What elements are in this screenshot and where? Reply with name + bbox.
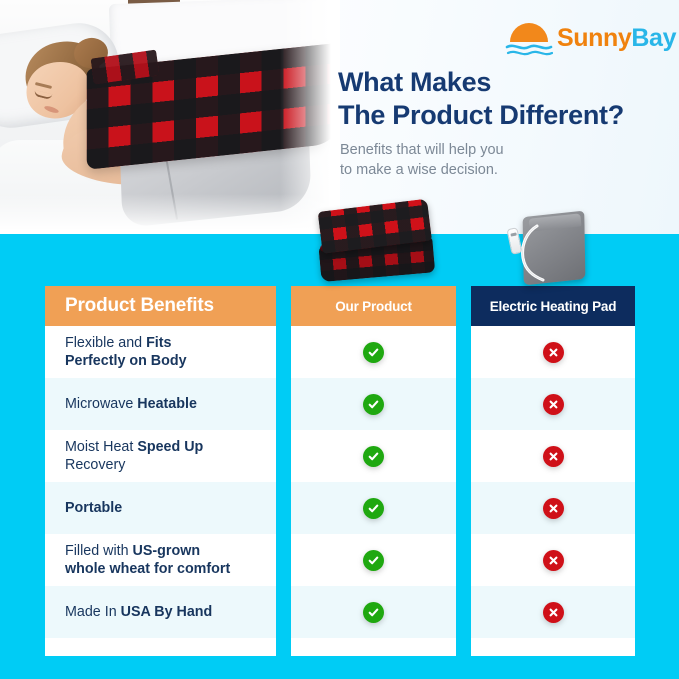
our-product-marks	[291, 326, 456, 656]
column-header-our-product: Our Product	[291, 286, 456, 326]
table-row	[291, 586, 456, 638]
table-row	[291, 482, 456, 534]
table-row	[471, 534, 635, 586]
table-row	[291, 534, 456, 586]
page-subtitle-line2: to make a wise decision.	[340, 160, 660, 180]
benefit-text-bold: Fits	[146, 335, 171, 351]
table-row	[471, 430, 635, 482]
benefit-text-plain: Microwave	[65, 396, 137, 412]
table-row	[471, 326, 635, 378]
table-row	[291, 378, 456, 430]
cross-circle-icon	[543, 550, 564, 571]
page-subtitle: Benefits that will help you to make a wi…	[340, 140, 660, 180]
page-title-line1: What Makes	[338, 66, 668, 99]
page-subtitle-line1: Benefits that will help you	[340, 140, 660, 160]
check-circle-icon	[363, 394, 384, 415]
cross-circle-icon	[543, 342, 564, 363]
column-our-product: Our Product	[291, 286, 456, 656]
benefit-text-plain: Filled with	[65, 543, 133, 559]
benefit-text-bold: USA By Hand	[121, 604, 213, 620]
table-row: Moist Heat Speed UpRecovery	[45, 430, 276, 482]
table-row	[471, 586, 635, 638]
table-row: Filled with US-grownwhole wheat for comf…	[45, 534, 276, 586]
benefit-text-plain: Flexible and	[65, 335, 146, 351]
comparison-table: Product Benefits Flexible and FitsPerfec…	[45, 286, 635, 656]
check-circle-icon	[363, 446, 384, 467]
electric-heating-pad-marks	[471, 326, 635, 656]
benefit-text-bold-2: Perfectly on Body	[65, 353, 187, 369]
page-title: What Makes The Product Different?	[338, 66, 668, 132]
table-row	[471, 378, 635, 430]
our-product-image	[314, 198, 441, 290]
sun-over-waves-icon	[505, 20, 553, 58]
benefit-text-bold: US-grown	[133, 543, 201, 559]
benefit-text-bold: Heatable	[137, 396, 197, 412]
table-row: Flexible and FitsPerfectly on Body	[45, 326, 276, 378]
check-circle-icon	[363, 602, 384, 623]
benefit-text-bold: Portable	[65, 500, 122, 516]
electric-heating-pad-image	[505, 214, 591, 288]
check-circle-icon	[363, 342, 384, 363]
benefit-text-plain: Moist Heat	[65, 439, 137, 455]
brand-name-part1: Sunny	[557, 24, 631, 52]
product-comparison-infographic: SunnyBay What Makes The Product Differen…	[0, 0, 679, 679]
brand-logo[interactable]: SunnyBay	[505, 18, 665, 62]
table-row: Portable	[45, 482, 276, 534]
benefit-text-plain: Made In	[65, 604, 121, 620]
cross-circle-icon	[543, 446, 564, 467]
column-electric-heating-pad: Electric Heating Pad	[471, 286, 635, 656]
table-row	[291, 430, 456, 482]
column-header-benefits: Product Benefits	[45, 286, 276, 326]
benefit-text-bold-2: whole wheat for comfort	[65, 561, 230, 577]
check-circle-icon	[363, 498, 384, 519]
brand-logo-text: SunnyBay	[557, 23, 676, 53]
table-row	[291, 326, 456, 378]
benefits-list: Flexible and FitsPerfectly on Body Micro…	[45, 326, 276, 656]
hero-lifestyle-photo	[0, 0, 340, 234]
table-row: Microwave Heatable	[45, 378, 276, 430]
controller-display	[510, 232, 516, 236]
page-title-line2: The Product Different?	[338, 99, 668, 132]
cross-circle-icon	[543, 498, 564, 519]
cross-circle-icon	[543, 394, 564, 415]
header-section: SunnyBay What Makes The Product Differen…	[0, 0, 679, 234]
brand-name-part2: Bay	[631, 24, 676, 52]
cross-circle-icon	[543, 602, 564, 623]
photo-fade-bottom	[0, 194, 340, 234]
table-row: Made In USA By Hand	[45, 586, 276, 638]
check-circle-icon	[363, 550, 384, 571]
column-product-benefits: Product Benefits Flexible and FitsPerfec…	[45, 286, 276, 656]
column-header-electric-heating-pad: Electric Heating Pad	[471, 286, 635, 326]
benefit-text-plain-2: Recovery	[65, 457, 125, 473]
table-row	[471, 482, 635, 534]
benefit-text-bold: Speed Up	[137, 439, 203, 455]
